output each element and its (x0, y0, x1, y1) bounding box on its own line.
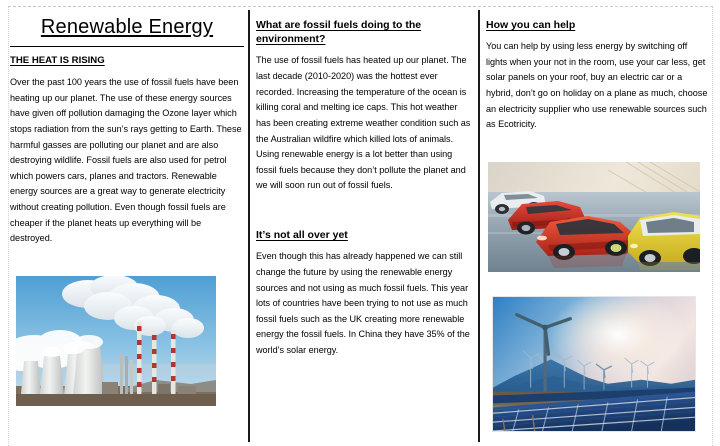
document-page: Renewable Energy THE HEAT IS RISING Over… (0, 0, 720, 446)
column-middle: What are fossil fuels doing to the envir… (256, 10, 472, 359)
column-left: Renewable Energy THE HEAT IS RISING Over… (10, 10, 244, 247)
middle-column-spacer (256, 194, 472, 220)
title-rule (10, 46, 244, 47)
column-divider-2 (478, 10, 480, 442)
electric-cars-photo (488, 162, 700, 272)
middle-column-paragraph-1: The use of fossil fuels has heated up ou… (256, 53, 472, 194)
column-divider-1 (248, 10, 250, 442)
middle-column-heading-1: What are fossil fuels doing to the envir… (256, 18, 472, 46)
left-column-paragraph: Over the past 100 years the use of fossi… (10, 75, 244, 247)
margin-guide-top-right (545, 6, 713, 7)
right-column-heading: How you can help (486, 18, 710, 32)
right-column-paragraph: You can help by using less energy by swi… (486, 39, 710, 133)
column-right: How you can help You can help by using l… (486, 10, 710, 133)
margin-guide-left (8, 6, 9, 446)
page-title: Renewable Energy (10, 16, 244, 38)
coal-power-plant-photo (16, 276, 216, 406)
solar-farm-photo (492, 296, 696, 432)
middle-column-heading-2: It’s not all over yet (256, 228, 472, 242)
middle-column-paragraph-2: Even though this has already happened we… (256, 249, 472, 358)
margin-guide-top-left (8, 6, 541, 7)
left-column-heading: THE HEAT IS RISING (10, 55, 244, 68)
margin-guide-right (712, 6, 713, 446)
